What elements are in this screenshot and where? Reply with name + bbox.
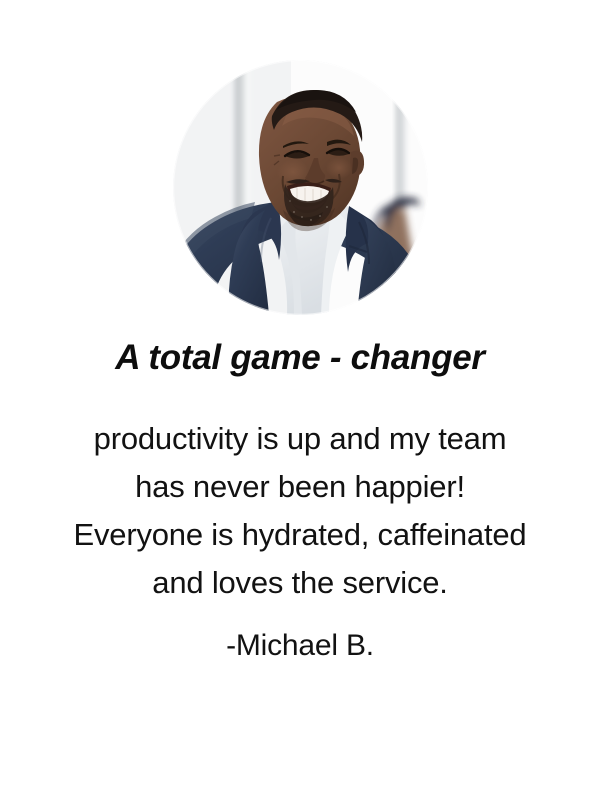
quote-line: and loves the service.: [0, 559, 600, 607]
testimonial-attribution: -Michael B.: [0, 625, 600, 667]
portrait-photo-icon: [173, 60, 428, 315]
quote-line: productivity is up and my team: [0, 415, 600, 463]
quote-line: has never been happier!: [0, 463, 600, 511]
testimonial-quote: productivity is up and my team has never…: [0, 415, 600, 607]
avatar: [173, 60, 428, 315]
testimonial-headline: A total game - changer: [0, 339, 600, 378]
testimonial-card: A total game - changer productivity is u…: [0, 0, 600, 800]
quote-line: Everyone is hydrated, caffeinated: [0, 511, 600, 559]
